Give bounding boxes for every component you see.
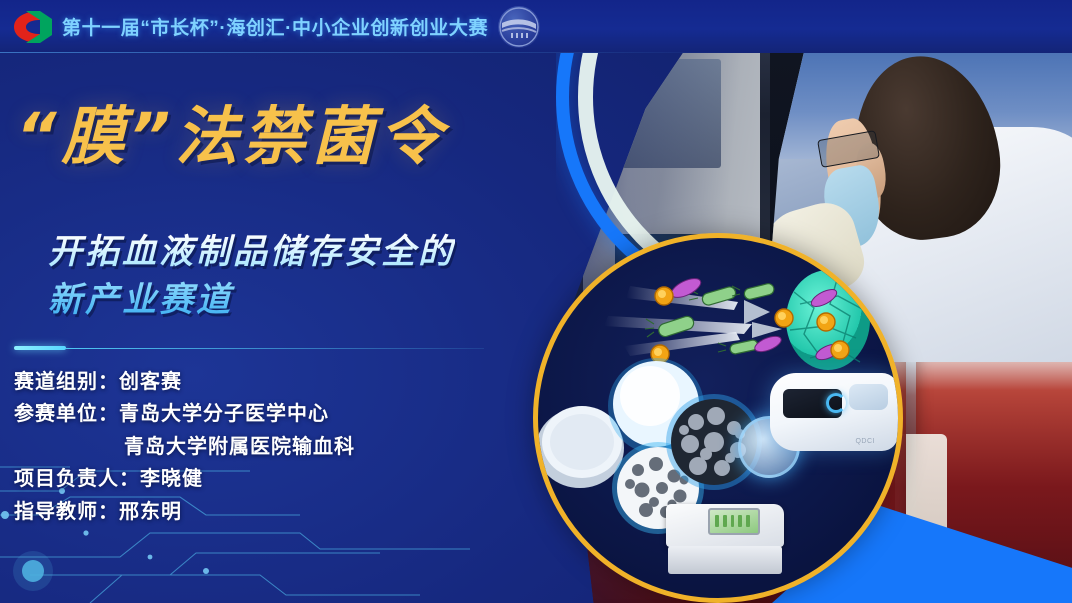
unit-value-2: 青岛大学附属医院输血科 [124, 436, 355, 458]
page-title: “膜”法禁菌令 [16, 104, 447, 170]
portable-filtration-device: QDCI [770, 373, 898, 451]
project-illustration-circle: QDCI [533, 233, 903, 603]
analyzer-display [708, 508, 760, 535]
group-value: 创客赛 [119, 371, 182, 393]
info-row-leader: 项目负责人：李晓健 [14, 463, 355, 495]
divider-accent [14, 346, 66, 350]
advisor-value: 邢东明 [119, 501, 182, 523]
advisor-label: 指导教师： [14, 501, 119, 523]
analyzer-base [668, 546, 781, 574]
page-subtitle: 开拓血液制品储存安全的 新产业赛道 [48, 228, 455, 325]
project-info-block: 赛道组别：创客赛 参赛单位：青岛大学分子医学中心 青岛大学附属医院输血科 项目负… [14, 366, 355, 528]
unit-value-1: 青岛大学分子医学中心 [119, 403, 329, 425]
leader-value: 李晓健 [140, 468, 203, 490]
info-row-advisor: 指导教师：邢东明 [14, 496, 355, 528]
presentation-slide: A RhD neg [0, 0, 1072, 603]
university-seal-icon [498, 6, 540, 48]
info-row-unit: 参赛单位：青岛大学分子医学中心 [14, 398, 355, 430]
header-title: 第十一届“市长杯”·海创汇·中小企业创新创业大赛 [62, 13, 488, 40]
header-bar: 第十一届“市长杯”·海创汇·中小企业创新创业大赛 [0, 0, 1072, 53]
device-brand-label: QDCI [855, 438, 875, 445]
subtitle-line-1: 开拓血液制品储存安全的 [48, 228, 455, 276]
group-label: 赛道组别： [14, 371, 119, 393]
section-divider [14, 346, 484, 350]
competition-logo-icon [10, 9, 56, 45]
divider-line [66, 348, 484, 349]
benchtop-analyzer [666, 504, 784, 574]
info-row-unit-2: 青岛大学附属医院输血科 [14, 431, 355, 463]
info-row-group: 赛道组别：创客赛 [14, 366, 355, 398]
leader-label: 项目负责人： [14, 468, 140, 490]
subtitle-line-2: 新产业赛道 [48, 276, 455, 324]
unit-label: 参赛单位： [14, 403, 119, 425]
device-status-ring-icon [826, 393, 846, 413]
analyzer-body [666, 504, 784, 547]
device-handle [849, 384, 887, 411]
